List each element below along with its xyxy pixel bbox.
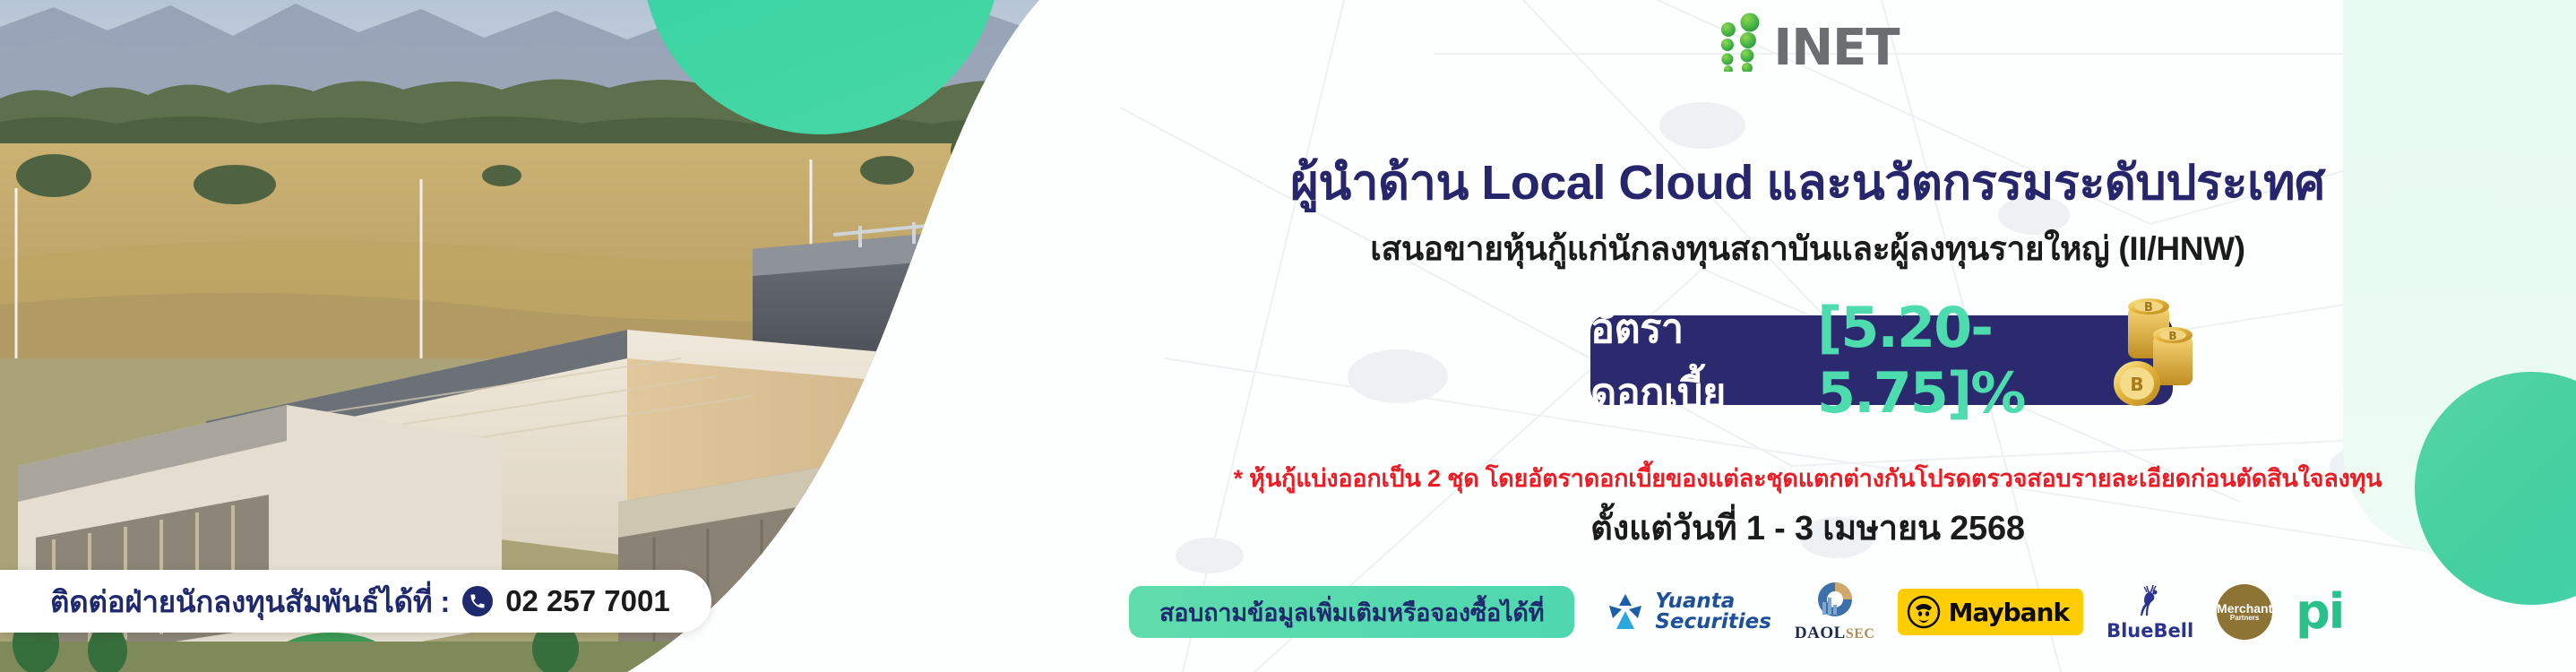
partner-logo-merchant[interactable]: Merchant Partners [2217, 584, 2272, 640]
offer-period: ตั้งแต่วันที่ 1 - 3 เมษายน 2568 [1039, 500, 2576, 555]
yuanta-star-icon [1605, 591, 1646, 633]
merchant-suffix: Partners [2230, 615, 2259, 622]
svg-text:B: B [2144, 301, 2153, 314]
partner-logo-pi[interactable]: pi [2296, 595, 2343, 629]
bluebell-wordmark: BlueBell [2106, 620, 2193, 642]
promo-banner: ติดต่อฝ่ายนักลงทุนสัมพันธ์ได้ที่ : 02 25… [0, 0, 2576, 672]
inet-logo: INET [1716, 13, 1899, 72]
interest-rate-label: อัตราดอกเบี้ย [1590, 296, 1803, 425]
gold-coins-icon: B B B [2101, 290, 2200, 416]
partner-logo-bluebell[interactable]: BlueBell [2106, 583, 2193, 642]
yuanta-line1: Yuanta [1655, 591, 1771, 612]
partner-logo-daolsec[interactable]: DAOLSEC [1795, 581, 1875, 643]
pi-wordmark: pi [2296, 595, 2343, 629]
page-subtitle: เสนอขายหุ้นกู้แก่นักลงทุนสถาบันและผู้ลงท… [1039, 222, 2576, 275]
partner-logo-maybank[interactable]: Maybank [1898, 589, 2083, 635]
maybank-wordmark: Maybank [1948, 598, 2069, 627]
contact-phone-number[interactable]: 02 257 7001 [505, 584, 670, 618]
merchant-name: Merchant [2217, 602, 2272, 615]
yuanta-line2: Securities [1655, 612, 1771, 633]
investor-contact-pill[interactable]: ติดต่อฝ่ายนักลงทุนสัมพันธ์ได้ที่ : 02 25… [0, 570, 711, 633]
maybank-tiger-icon [1907, 595, 1941, 629]
inet-dots-icon [1716, 13, 1768, 72]
svg-text:B: B [2130, 374, 2143, 395]
bluebell-deer-icon [2133, 583, 2167, 619]
cta-inquiry-button[interactable]: สอบถามข้อมูลเพิ่มเติมหรือจองซื้อได้ที่ [1129, 586, 1574, 638]
inet-logo-text: INET [1773, 25, 1899, 72]
svg-text:B: B [2168, 330, 2176, 342]
daol-circle-icon [1812, 581, 1858, 622]
footnote-text: * หุ้นกู้แบ่งออกเป็น 2 ชุด โดยอัตราดอกเบ… [1039, 459, 2576, 497]
daol-wordmark: DAOLSEC [1795, 624, 1875, 643]
partner-row: สอบถามข้อมูลเพิ่มเติมหรือจองซื้อได้ที่ Y… [1129, 581, 2343, 643]
daol-name: DAOL [1795, 624, 1846, 642]
contact-label: ติดต่อฝ่ายนักลงทุนสัมพันธ์ได้ที่ : [50, 578, 450, 625]
phone-icon [462, 586, 493, 616]
yuanta-wordmark: Yuanta Securities [1655, 591, 1771, 632]
partner-logos: Yuanta Securities [1605, 581, 2343, 643]
page-title: ผู้นำด้าน Local Cloud และนวัตกรรมระดับปร… [1039, 143, 2576, 220]
partner-logo-yuanta[interactable]: Yuanta Securities [1605, 591, 1771, 633]
interest-rate-box: อัตราดอกเบี้ย [5.20-5.75]% [1590, 315, 2173, 405]
daol-suffix: SEC [1846, 626, 1875, 642]
content-area: INET ผู้นำด้าน Local Cloud และนวัตกรรมระ… [1039, 0, 2576, 672]
